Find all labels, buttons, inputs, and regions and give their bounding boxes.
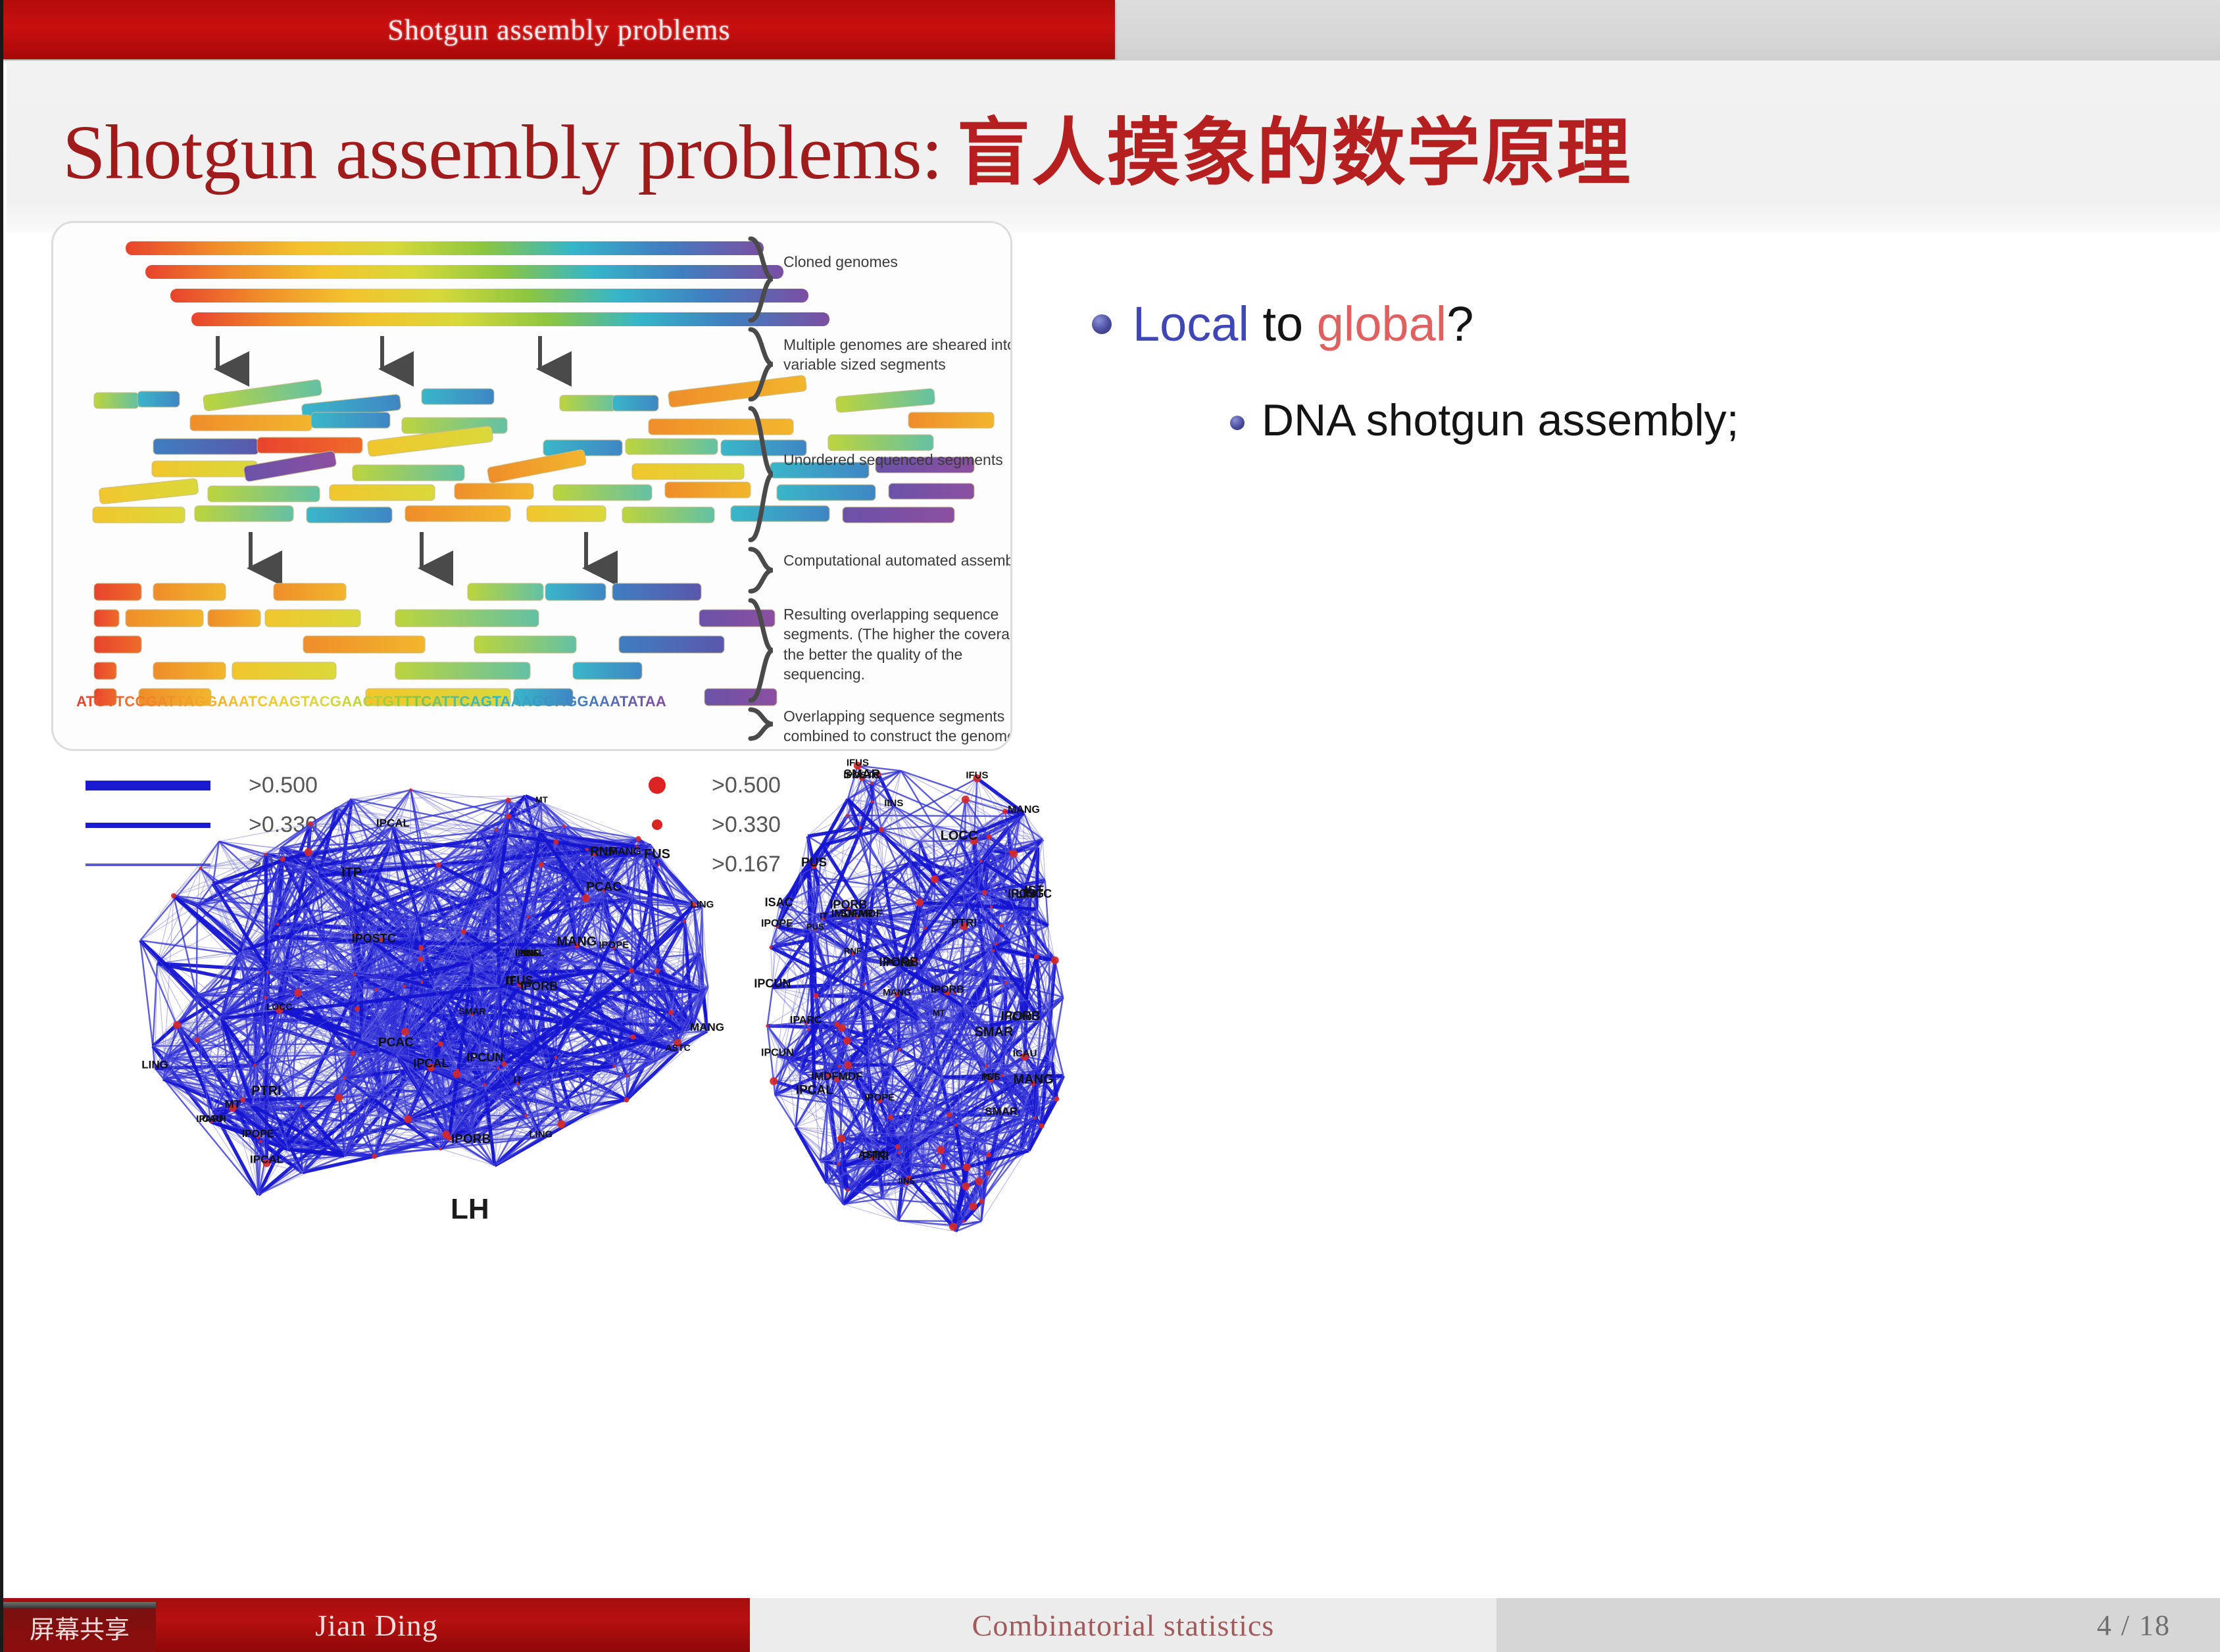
cloned-genome-bars — [126, 241, 829, 326]
dna-shotgun-assembly-figure: Cloned genomes Multiple genomes are shea… — [51, 221, 1012, 751]
slide-root: Shotgun assembly problems Shotgun assemb… — [0, 0, 2220, 1652]
screen-share-label: 屏幕共享 — [30, 1609, 130, 1645]
bullet-text-level1: Local to global? — [1133, 299, 1473, 350]
brain-connectome-axial: IPOSTCISTSMARICAUISACIPORBSMARSMARIPCUNM… — [724, 739, 1118, 1242]
bullet-item-local-to-global: Local to global? — [1092, 299, 2177, 350]
footer-page-number: 4 / 18 — [2097, 1609, 2171, 1642]
svg-text:IPORB: IPORB — [451, 1132, 491, 1146]
brain-connectome-lateral: IPOPEMANGITPLOCCMTASTCLINGIPCALLINGPTRII… — [79, 772, 737, 1249]
svg-text:LOCC: LOCC — [266, 1001, 293, 1011]
slide-footer: Jian Ding Combinatorial statistics 4 / 1… — [3, 1598, 2220, 1652]
bullet-word-global: global — [1317, 297, 1447, 351]
slide-content: Local to global? DNA shotgun assembly; — [7, 233, 2220, 1581]
footer-title-cell: Combinatorial statistics — [750, 1598, 1496, 1652]
svg-text:IPCAL: IPCAL — [376, 817, 410, 829]
bullet-word-to: to — [1249, 297, 1317, 351]
svg-text:SMAR: SMAR — [458, 1006, 485, 1017]
figure-caption-resulting: Resulting overlapping sequence segments.… — [783, 604, 1012, 684]
footer-page-cell: 4 / 18 — [1496, 1598, 2220, 1652]
svg-text:FUS: FUS — [644, 847, 670, 862]
bullet-word-local: Local — [1133, 297, 1249, 351]
dna-figure-canvas: Cloned genomes Multiple genomes are shea… — [53, 223, 1010, 749]
footer-author: Jian Ding — [315, 1608, 438, 1643]
bullet-list: Local to global? DNA shotgun assembly; — [1092, 299, 2177, 444]
assembled-segments — [94, 583, 777, 706]
svg-text:RNF: RNF — [590, 845, 616, 859]
page-title: Shotgun assembly problems:盲人摸象的数学原理 — [62, 93, 1632, 200]
svg-text:IPOPE: IPOPE — [242, 1129, 274, 1140]
page-title-en: Shotgun assembly problems: — [62, 109, 943, 195]
svg-text:IPOPE: IPOPE — [599, 940, 629, 951]
figure-caption-computational: Computational automated assembly — [783, 550, 1012, 570]
svg-text:IT: IT — [514, 1075, 522, 1086]
footer-talk-title: Combinatorial statistics — [972, 1608, 1275, 1643]
svg-text:MANG: MANG — [556, 935, 597, 949]
top-navigation-bar: Shotgun assembly problems — [3, 0, 2220, 61]
svg-text:IPCAL: IPCAL — [413, 1057, 449, 1070]
bullet-text-level2: DNA shotgun assembly; — [1262, 397, 1739, 444]
svg-text:PCAC: PCAC — [378, 1036, 414, 1050]
bullet-dot-icon — [1092, 314, 1112, 334]
figure-caption-shearing: Multiple genomes are sheared into variab… — [783, 335, 1012, 375]
svg-text:LING: LING — [141, 1058, 168, 1071]
sheared-fragments — [93, 375, 994, 523]
assembly-arrows — [251, 532, 586, 568]
svg-text:ITP: ITP — [341, 865, 362, 880]
brain-connectome-axial-svg: IPOSTCISTSMARICAUISACIPORBSMARSMARIPCUNM… — [724, 739, 1118, 1239]
svg-text:LING: LING — [690, 899, 714, 910]
svg-text:IPCUN: IPCUN — [466, 1051, 503, 1064]
sub-bullet-dot-icon — [1230, 416, 1245, 430]
svg-text:IINS: IINS — [520, 948, 539, 959]
svg-text:IPOSTC: IPOSTC — [352, 932, 396, 945]
svg-text:MANG: MANG — [690, 1021, 724, 1034]
brain-connectome-lateral-svg: IPOPEMANGITPLOCCMTASTCLINGIPCALLINGPTRII… — [79, 772, 737, 1246]
svg-text:MT: MT — [224, 1098, 241, 1111]
section-banner-label: Shotgun assembly problems — [387, 13, 730, 47]
consensus-sequence-chars: ATGTTCCGATTAGGAAATCAAGTACGAACTGTTTCATTCA… — [76, 693, 666, 710]
brain-hemisphere-label-lh: LH — [451, 1193, 489, 1226]
svg-text:IPORB: IPORB — [520, 979, 558, 992]
screen-share-indicator[interactable]: 屏幕共享 — [3, 1602, 156, 1652]
figure-caption-cloned-genomes: Cloned genomes — [783, 252, 1012, 272]
bullet-word-question: ? — [1446, 297, 1473, 351]
figure-caption-unordered: Unordered sequenced segments — [783, 450, 1012, 470]
svg-text:PTRI: PTRI — [251, 1084, 282, 1098]
svg-text:PCAC: PCAC — [586, 881, 622, 894]
slide-title-band: Shotgun assembly problems:盲人摸象的数学原理 — [7, 61, 2220, 233]
consensus-sequence-text: ATGTTCCGATTAGGAAATCAAGTACGAACTGTTTCATTCA… — [76, 693, 734, 710]
svg-text:ASTC: ASTC — [666, 1042, 691, 1053]
shear-arrows — [218, 336, 540, 369]
svg-text:IPARH: IPARH — [196, 1113, 226, 1125]
page-title-cjk: 盲人摸象的数学原理 — [957, 110, 1632, 196]
svg-text:MT: MT — [535, 794, 548, 804]
svg-text:IPCAL: IPCAL — [250, 1154, 284, 1166]
bullet-item-dna-shotgun: DNA shotgun assembly; — [1230, 397, 2177, 444]
svg-text:LING: LING — [529, 1129, 553, 1140]
section-banner: Shotgun assembly problems — [3, 0, 1115, 59]
